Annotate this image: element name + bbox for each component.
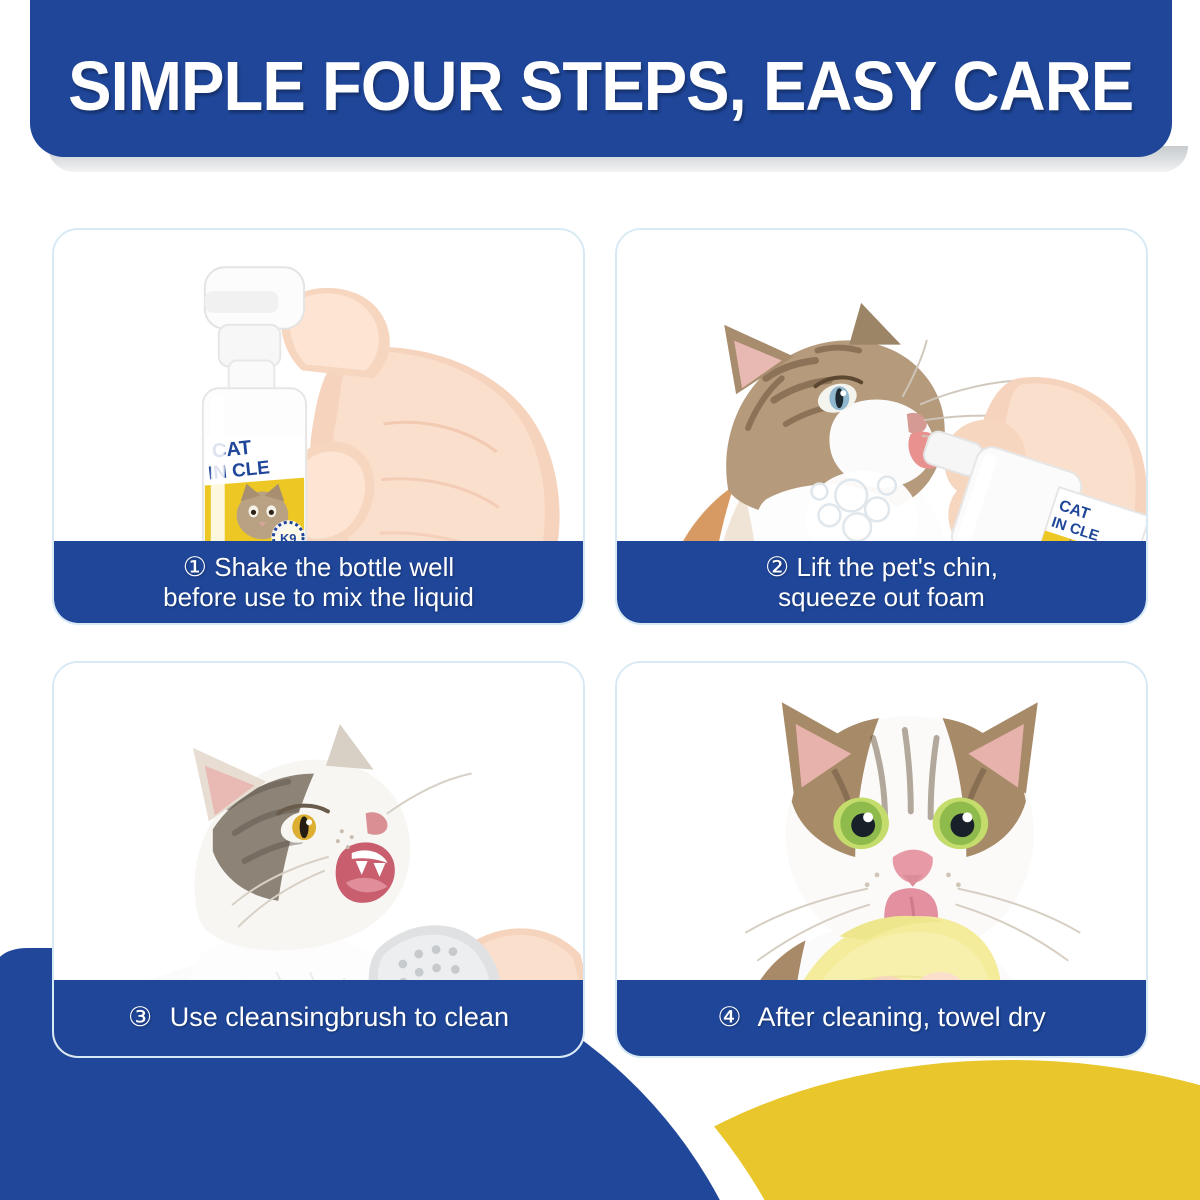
step-caption-text-2: ② Lift the pet's chin, squeeze out foam [751,552,1012,613]
step-card-3[interactable]: ③ Use cleansingbrush to clean [52,661,585,1058]
step-caption-text-3: ③ Use cleansingbrush to clean [114,1002,523,1033]
step-caption-bar-3: ③ Use cleansingbrush to clean [54,980,583,1056]
step-caption-line1-2: Lift the pet's chin, [796,552,998,582]
step-number-2: ② [765,552,789,582]
step-card-4[interactable]: ④ After cleaning, towel dry [615,661,1148,1058]
step-caption-line1-4: After cleaning, towel dry [758,1002,1046,1032]
step-caption-line1-3: Use cleansingbrush to clean [170,1002,509,1032]
page-title: SIMPLE FOUR STEPS, EASY CARE [68,46,1133,126]
step-number-3: ③ [128,1002,152,1032]
step-number-1: ① [183,552,207,582]
steps-grid: CAT IN CLE [52,228,1148,1058]
yellow-ellipse-decor [560,1060,1200,1200]
header-banner: SIMPLE FOUR STEPS, EASY CARE [30,0,1172,157]
step-caption-line1-1: Shake the bottle well [214,552,454,582]
step-caption-text-1: ① Shake the bottle well before use to mi… [149,552,488,613]
step-card-2[interactable]: CAT IN CLE [615,228,1148,625]
step-card-1[interactable]: CAT IN CLE [52,228,585,625]
step-caption-bar-4: ④ After cleaning, towel dry [617,980,1146,1056]
step-number-4: ④ [717,1002,741,1032]
step-caption-line2-2: squeeze out foam [765,583,998,613]
step-caption-line2-1: before use to mix the liquid [163,583,474,613]
step-caption-bar-1: ① Shake the bottle well before use to mi… [54,541,583,623]
step-caption-text-4: ④ After cleaning, towel dry [703,1002,1059,1033]
step-caption-bar-2: ② Lift the pet's chin, squeeze out foam [617,541,1146,623]
